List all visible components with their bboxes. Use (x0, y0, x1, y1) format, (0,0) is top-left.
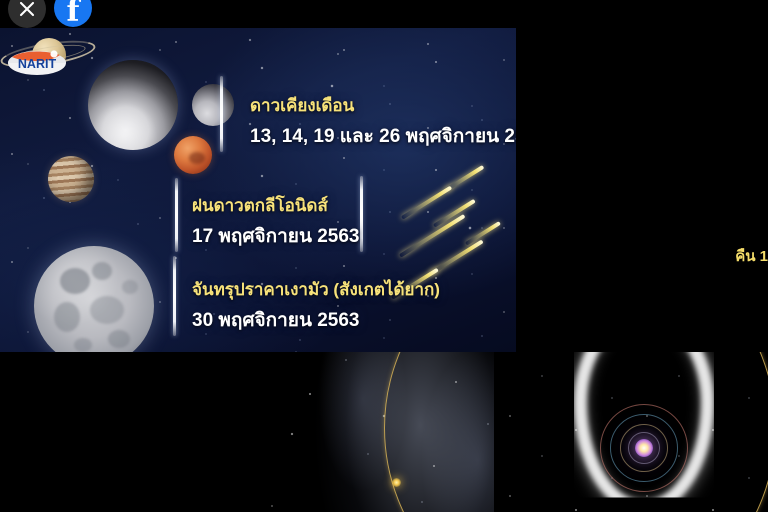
night-caption: คืน 1 (735, 244, 768, 268)
event-title: ฝนดาวตกลีโอนิดส์ (192, 192, 359, 219)
overlay-top-bar: f (0, 0, 768, 28)
divider-line (173, 256, 176, 336)
sun-center (635, 439, 653, 457)
astronomy-infographic-panel: NARIT (0, 28, 516, 352)
mars-planet-illustration (174, 136, 212, 174)
crescent-moon-illustration (88, 60, 178, 150)
divider-line (360, 176, 363, 252)
facebook-share-button[interactable]: f (54, 0, 92, 27)
divider-line (220, 76, 223, 152)
meteor-streak (445, 165, 484, 192)
event-penumbral-lunar-eclipse: จันทรุปราคาเงามัว (สังเกตได้ยาก) 30 พฤศจ… (192, 276, 440, 335)
narit-logo: NARIT (6, 48, 68, 78)
narit-logo-text: NARIT (18, 57, 57, 71)
event-title: ดาวเคียงเดือน (250, 92, 516, 119)
full-moon-illustration (34, 246, 154, 352)
event-date: 30 พฤศจิกายน 2563 (192, 305, 440, 335)
comet-position-marker (392, 478, 401, 487)
meteor-streak (401, 186, 452, 220)
close-button[interactable] (8, 0, 46, 28)
sky-image-region (258, 352, 768, 512)
meteor-streaks-illustration (399, 214, 466, 258)
small-moon-illustration (192, 84, 234, 126)
event-date: 17 พฤศจิกายน 2563 (192, 221, 359, 251)
event-leonid-meteor-shower: ฝนดาวตกลีโอนิดส์ 17 พฤศจิกายน 2563 (192, 192, 359, 251)
jupiter-planet-illustration (48, 156, 94, 202)
close-icon (19, 1, 35, 17)
screen-root: NARIT (0, 0, 768, 512)
event-date: 13, 14, 19 และ 26 พฤศจิกายน 256 (250, 121, 516, 151)
divider-line (175, 178, 178, 252)
event-title: จันทรุปราคาเงามัว (สังเกตได้ยาก) (192, 276, 440, 303)
event-planet-conjunction: ดาวเคียงเดือน 13, 14, 19 และ 26 พฤศจิกาย… (250, 92, 516, 151)
facebook-logo-icon: f (67, 0, 80, 27)
